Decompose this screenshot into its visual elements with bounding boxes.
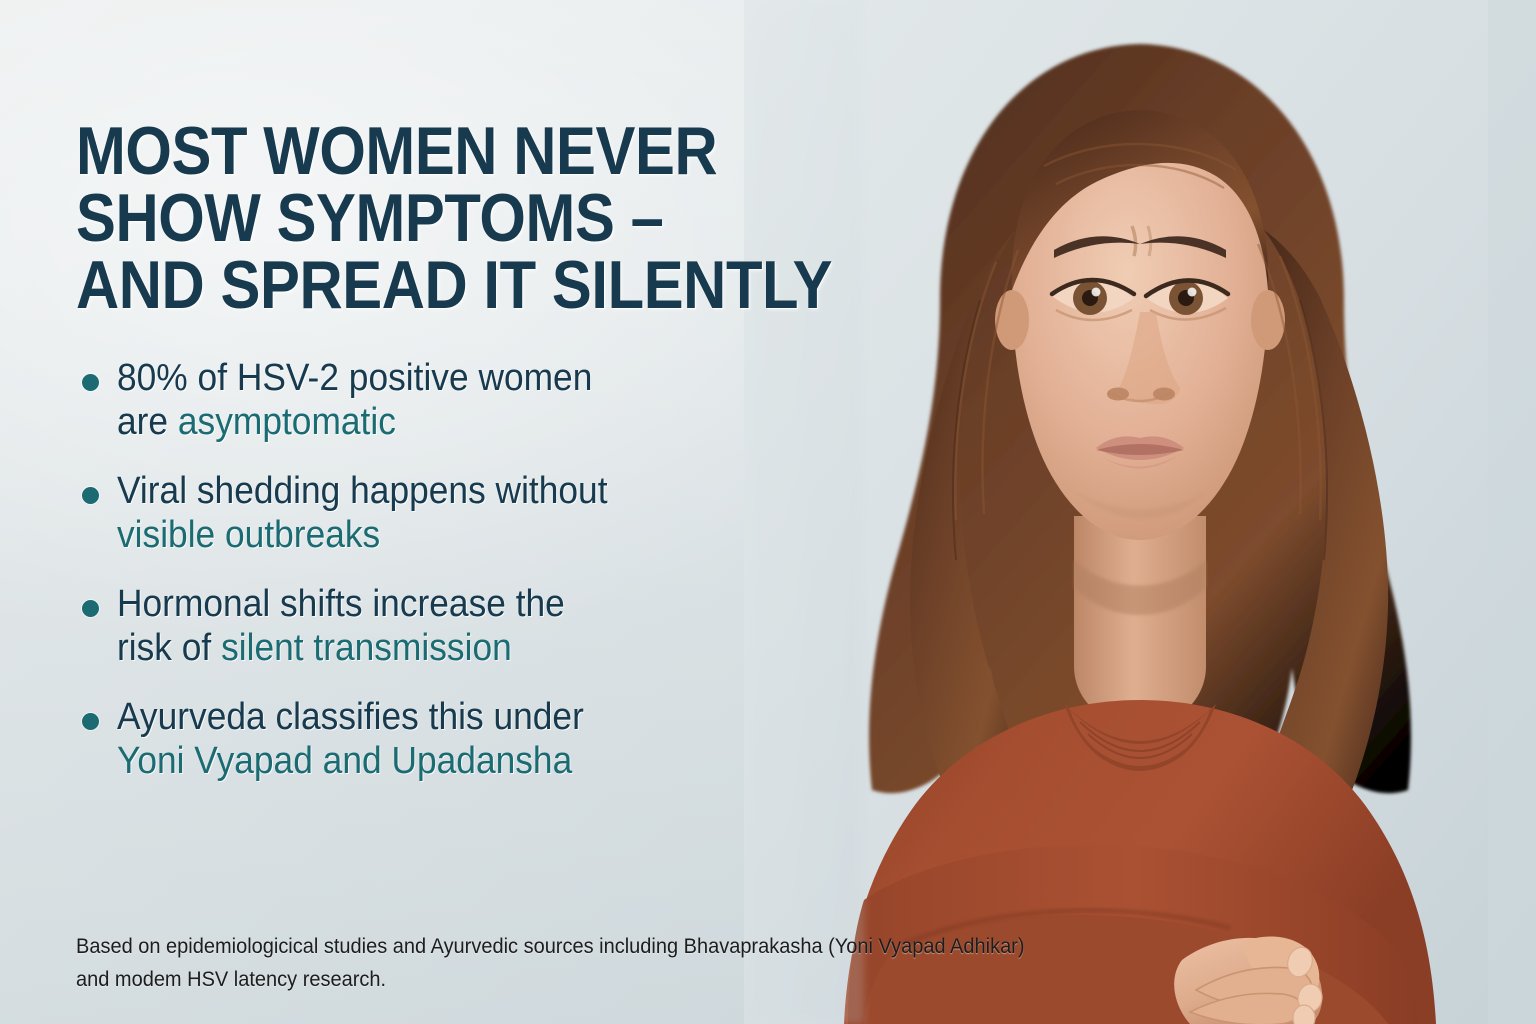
headline-line-1: MOST WOMEN NEVER bbox=[76, 118, 806, 185]
list-item-text: 80% of HSV-2 positive women are asymptom… bbox=[117, 356, 814, 445]
list-item-text: Ayurveda classifies this under Yoni Vyap… bbox=[117, 695, 814, 784]
bullet-3-highlight: silent transmission bbox=[221, 627, 512, 669]
bullet-3-line-2-plain: risk of bbox=[117, 627, 221, 669]
list-item: 80% of HSV-2 positive women are asymptom… bbox=[76, 356, 866, 445]
bullet-3-line-1: Hormonal shifts increase the bbox=[117, 583, 565, 625]
bullet-1-highlight: asymptomatic bbox=[178, 401, 396, 443]
infographic-canvas: MOST WOMEN NEVER SHOW SYMPTOMS – AND SPR… bbox=[0, 0, 1536, 1024]
footnote-line-2: and modem HSV latency research. bbox=[76, 963, 1257, 996]
list-item: Viral shedding happens without visible o… bbox=[76, 469, 866, 558]
bullet-2-highlight: visible outbreaks bbox=[117, 514, 380, 556]
bullet-1-line-1: 80% of HSV-2 positive women bbox=[117, 357, 592, 399]
source-footnote: Based on epidemiologicical studies and A… bbox=[76, 930, 1257, 995]
headline-line-3: AND SPREAD IT SILENTLY bbox=[76, 252, 806, 319]
bullet-4-highlight: Yoni Vyapad and Upadansha bbox=[117, 740, 572, 782]
key-facts-list: 80% of HSV-2 positive women are asymptom… bbox=[76, 356, 866, 808]
bullet-4-line-1: Ayurveda classifies this under bbox=[117, 696, 584, 738]
list-item: Ayurveda classifies this under Yoni Vyap… bbox=[76, 695, 866, 784]
list-item-text: Hormonal shifts increase the risk of sil… bbox=[117, 582, 814, 671]
page-title: MOST WOMEN NEVER SHOW SYMPTOMS – AND SPR… bbox=[76, 118, 806, 320]
list-item-text: Viral shedding happens without visible o… bbox=[117, 469, 814, 558]
list-item: Hormonal shifts increase the risk of sil… bbox=[76, 582, 866, 671]
bullet-dot-icon bbox=[82, 713, 99, 730]
bullet-dot-icon bbox=[82, 374, 99, 391]
bullet-2-line-1: Viral shedding happens without bbox=[117, 470, 608, 512]
footnote-line-1: Based on epidemiologicical studies and A… bbox=[76, 930, 1257, 963]
bullet-dot-icon bbox=[82, 600, 99, 617]
headline-line-2: SHOW SYMPTOMS – bbox=[76, 185, 806, 252]
bullet-dot-icon bbox=[82, 487, 99, 504]
bullet-1-line-2-plain: are bbox=[117, 401, 178, 443]
